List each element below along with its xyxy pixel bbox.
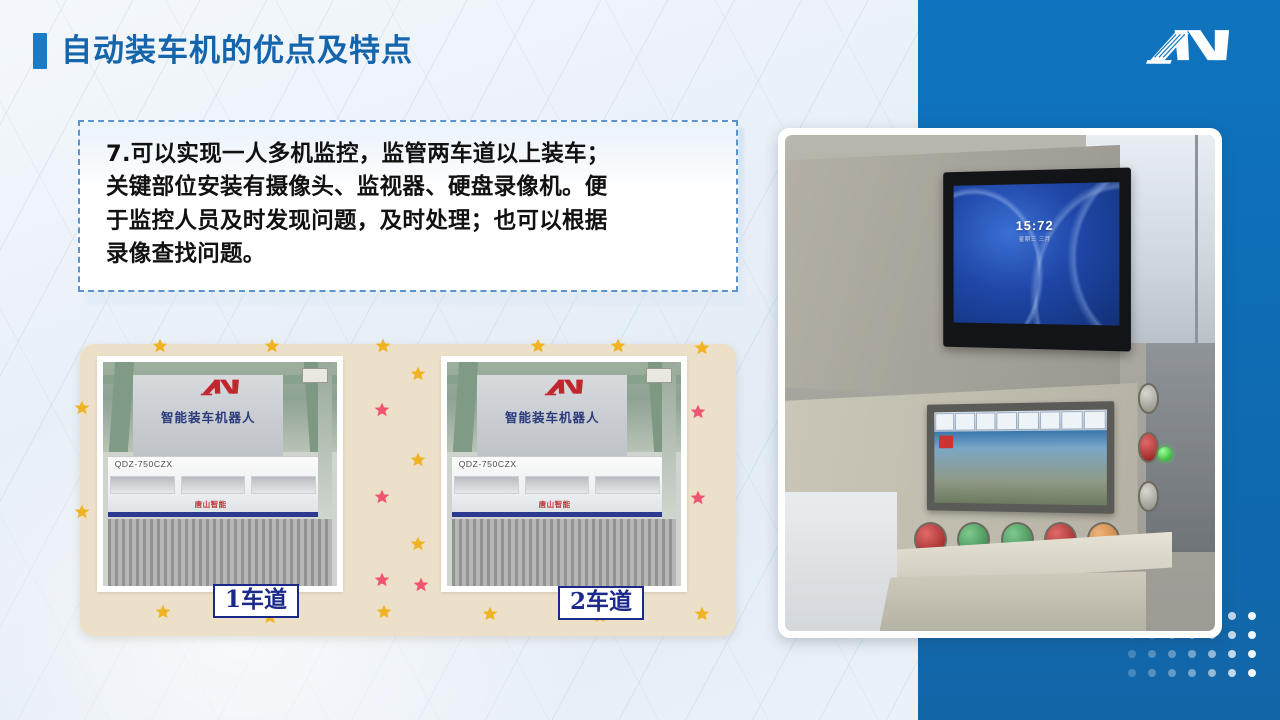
- star-icon: [410, 366, 426, 382]
- monitor-clock-time: 15:72: [1015, 217, 1053, 232]
- star-icon: [410, 452, 426, 468]
- side-button-column: [1138, 383, 1160, 512]
- zn-logo-icon: [1146, 28, 1232, 68]
- star-icon: [690, 404, 706, 420]
- star-icon: [374, 402, 390, 418]
- slide-root: 自动装车机的优点及特点 7.可以实现一人多机监控，监管两车道以上装车； 关键部位…: [0, 0, 1280, 720]
- star-icon: [375, 338, 391, 354]
- machine-brand-label: 唐山智能: [447, 499, 662, 510]
- lane-photo-1: 智能装车机器人 QDZ-750CZX 唐山智能: [97, 356, 343, 592]
- machine-model-label: QDZ-750CZX: [459, 459, 517, 469]
- machine-name-label: 智能装车机器人: [477, 407, 627, 426]
- hmi-panel: [926, 401, 1114, 514]
- star-icon: [74, 504, 90, 520]
- callout-box: 7.可以实现一人多机监控，监管两车道以上装车； 关键部位安装有摄像头、监视器、硬…: [78, 120, 738, 292]
- machine-name-label: 智能装车机器人: [133, 407, 283, 426]
- star-icon: [374, 489, 390, 505]
- star-icon: [410, 536, 426, 552]
- wall-sign-icon: [302, 368, 327, 383]
- machine-model-label: QDZ-750CZX: [115, 459, 173, 469]
- callout-line-1: 7.可以实现一人多机监控，监管两车道以上装车；: [106, 138, 716, 171]
- lane-label-2: 2车道: [558, 586, 644, 620]
- star-icon: [690, 490, 706, 506]
- title-text: 自动装车机的优点及特点: [61, 36, 413, 67]
- star-icon: [376, 604, 392, 620]
- hmi-screen: [934, 409, 1107, 506]
- lane-label-1: 1车道: [213, 584, 299, 618]
- lane-photo-2: 智能装车机器人 QDZ-750CZX 唐山智能: [441, 356, 687, 592]
- machine-brand-label: 唐山智能: [103, 499, 318, 510]
- star-icon: [374, 572, 390, 588]
- star-icon: [694, 606, 710, 622]
- monitor-bezel: 15:72 星期三 三月: [943, 167, 1131, 351]
- star-icon: [74, 400, 90, 416]
- reset-button[interactable]: [1138, 432, 1160, 463]
- star-icon: [413, 577, 429, 593]
- zn-logo-icon: [541, 379, 588, 397]
- wall-sign-icon: [646, 368, 671, 383]
- control-cabinet-photo: 15:72 星期三 三月: [778, 128, 1222, 638]
- title-accent-bar: [33, 33, 47, 69]
- star-icon: [694, 340, 710, 356]
- mode-button[interactable]: [1138, 481, 1160, 512]
- star-icon: [264, 338, 280, 354]
- monitor-screen: 15:72 星期三 三月: [954, 182, 1119, 325]
- loader-robot-image-1: 智能装车机器人 QDZ-750CZX 唐山智能: [103, 362, 337, 586]
- monitor-clock-date: 星期三 三月: [954, 234, 1119, 243]
- selector-switch[interactable]: [1138, 383, 1160, 414]
- page-title: 自动装车机的优点及特点: [33, 33, 413, 69]
- star-icon: [610, 338, 626, 354]
- star-icon: [482, 606, 498, 622]
- callout-line-2: 关键部位安装有摄像头、监视器、硬盘录像机。便: [106, 171, 716, 204]
- star-icon: [152, 338, 168, 354]
- monitor-clock: 15:72 星期三 三月: [954, 216, 1119, 242]
- loader-robot-image-2: 智能装车机器人 QDZ-750CZX 唐山智能: [447, 362, 681, 586]
- callout-line-4: 录像查找问题。: [106, 238, 716, 271]
- zn-logo-icon: [197, 379, 244, 397]
- star-icon: [155, 604, 171, 620]
- callout-line-3: 于监控人员及时发现问题，及时处理；也可以根据: [106, 205, 716, 238]
- star-icon: [530, 338, 546, 354]
